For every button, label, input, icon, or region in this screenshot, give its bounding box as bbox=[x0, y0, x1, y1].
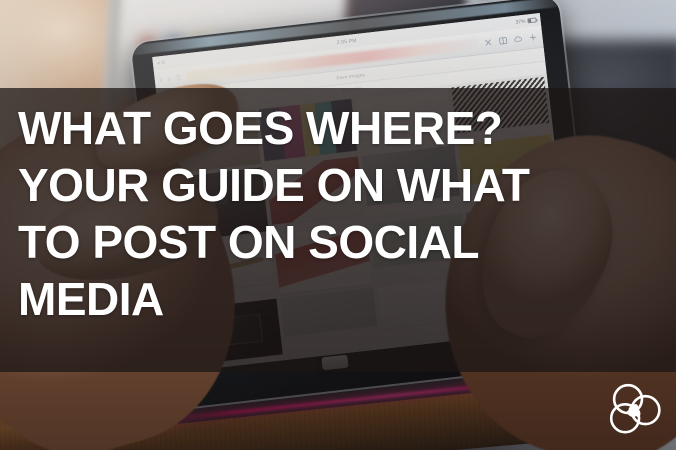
battery-percent-label: 37% bbox=[515, 18, 526, 25]
hero-image: ◂ ⚙ 2:05 PM 37% ‹ › ⇧ bbox=[0, 0, 676, 450]
browser-nav-buttons[interactable]: ‹ › ⇧ bbox=[159, 73, 182, 84]
back-icon[interactable]: ‹ bbox=[159, 75, 163, 84]
browser-action-icons[interactable] bbox=[483, 32, 538, 47]
forward-icon[interactable]: › bbox=[167, 74, 171, 83]
bookmarks-icon[interactable] bbox=[498, 36, 508, 46]
icloud-tabs-icon[interactable] bbox=[513, 34, 523, 44]
page-title: WHAT GOES WHERE? YOUR GUIDE ON WHAT TO P… bbox=[18, 100, 658, 328]
share-icon[interactable]: ⇧ bbox=[175, 73, 183, 83]
status-bar-clock: 2:05 PM bbox=[336, 37, 357, 45]
status-bar-left-icons: ◂ ⚙ bbox=[157, 59, 166, 66]
three-overlapping-rings-logo bbox=[606, 380, 664, 438]
new-tab-icon[interactable] bbox=[528, 32, 538, 42]
status-bar-battery: 37% bbox=[515, 17, 537, 25]
battery-icon bbox=[527, 17, 537, 23]
close-tab-icon[interactable] bbox=[483, 38, 493, 48]
